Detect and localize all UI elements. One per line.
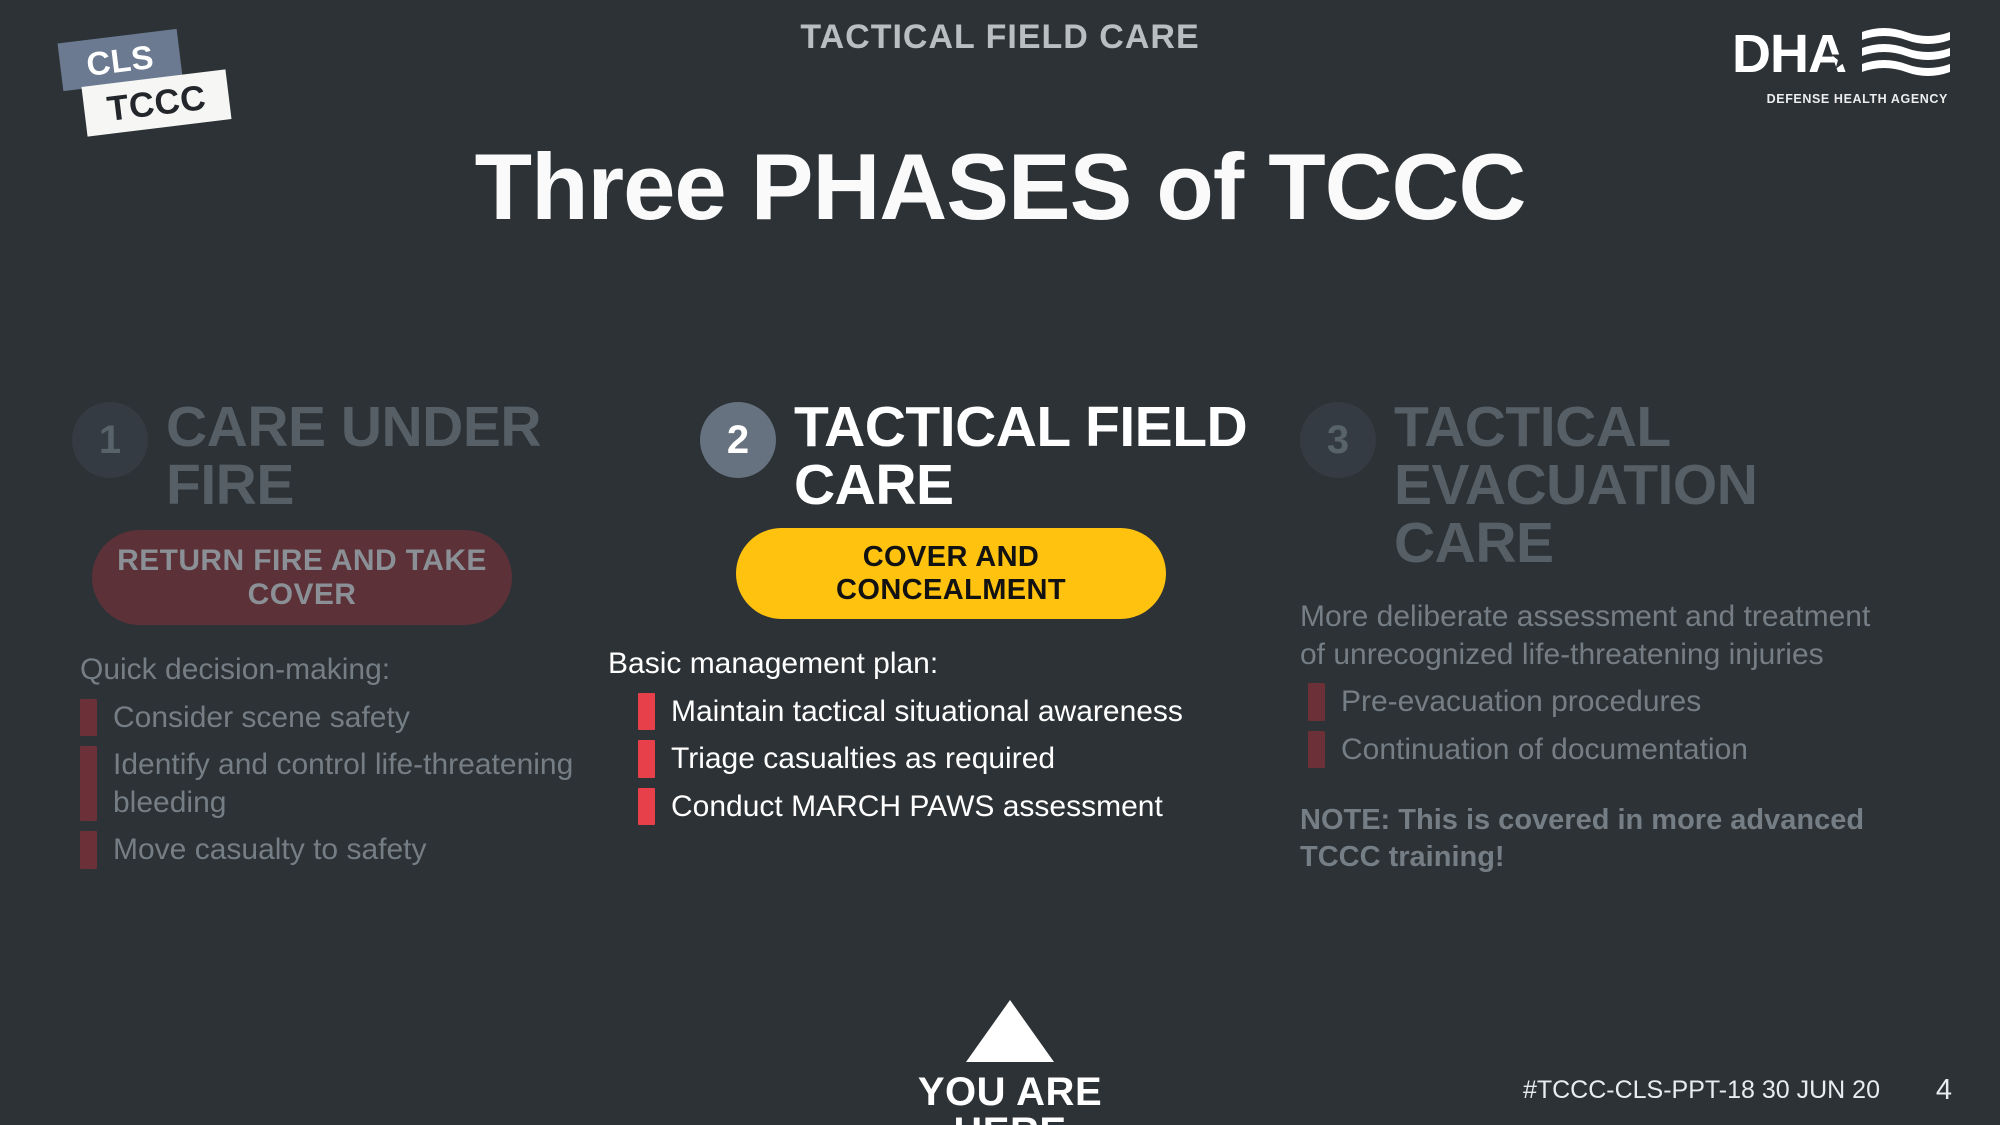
list-item: Triage casualties as required xyxy=(638,740,1260,778)
phase-1-header: 1 CARE UNDER FIRE xyxy=(72,398,652,514)
phase-column-2[interactable]: 2 TACTICAL FIELD CARE COVER AND CONCEALM… xyxy=(700,398,1260,835)
bullet-marker xyxy=(638,788,655,826)
phase-2-lead: Basic management plan: xyxy=(608,645,1260,683)
bullet-marker xyxy=(80,699,97,737)
phase-1-bullet-list: Consider scene safety Identify and contr… xyxy=(80,699,652,869)
phase-2-header: 2 TACTICAL FIELD CARE xyxy=(700,398,1260,514)
phase-1-lead: Quick decision-making: xyxy=(80,651,652,689)
dha-subtitle: DEFENSE HEALTH AGENCY xyxy=(1732,92,1952,106)
footer-page-number: 4 xyxy=(1936,1074,1952,1107)
phase-2-pill[interactable]: COVER AND CONCEALMENT xyxy=(736,528,1166,619)
list-item: Conduct MARCH PAWS assessment xyxy=(638,788,1260,826)
slide-eyebrow: TACTICAL FIELD CARE xyxy=(0,18,2000,57)
up-triangle-icon xyxy=(966,1000,1054,1062)
phase-2-title: TACTICAL FIELD CARE xyxy=(794,398,1260,514)
you-are-here-indicator: YOU ARE HERE xyxy=(880,1000,1140,1125)
list-item: Consider scene safety xyxy=(80,699,652,737)
bullet-text: Triage casualties as required xyxy=(671,740,1055,778)
phase-2-number-badge: 2 xyxy=(700,402,776,478)
bullet-text: Maintain tactical situational awareness xyxy=(671,693,1183,731)
page-title: Three PHASES of TCCC xyxy=(0,140,2000,234)
bullet-text: Identify and control life-threatening bl… xyxy=(113,746,652,821)
bullet-text: Continuation of documentation xyxy=(1341,731,1748,769)
slide-canvas: CLS TCCC DHA DEFENSE HEALTH AGENCY TACTI… xyxy=(0,0,2000,1125)
tccc-badge-label: TCCC xyxy=(105,80,208,127)
list-item: Move casualty to safety xyxy=(80,831,652,869)
phases-container: 1 CARE UNDER FIRE RETURN FIRE AND TAKE C… xyxy=(0,398,2000,1058)
bullet-marker xyxy=(80,831,97,869)
bullet-marker xyxy=(638,693,655,731)
phase-column-3[interactable]: 3 TACTICAL EVACUATION CARE More delibera… xyxy=(1300,398,1900,875)
bullet-marker xyxy=(80,746,97,821)
phase-1-pill[interactable]: RETURN FIRE AND TAKE COVER xyxy=(92,530,512,625)
phase-1-number-badge: 1 xyxy=(72,402,148,478)
phase-3-title: TACTICAL EVACUATION CARE xyxy=(1394,398,1900,572)
list-item: Pre-evacuation procedures xyxy=(1308,683,1900,721)
footer-document-code: #TCCC-CLS-PPT-18 30 JUN 20 xyxy=(1523,1076,1880,1105)
bullet-marker xyxy=(1308,683,1325,721)
phase-3-number-badge: 3 xyxy=(1300,402,1376,478)
list-item: Continuation of documentation xyxy=(1308,731,1900,769)
bullet-text: Conduct MARCH PAWS assessment xyxy=(671,788,1163,826)
bullet-text: Consider scene safety xyxy=(113,699,410,737)
phase-1-title: CARE UNDER FIRE xyxy=(166,398,652,514)
phase-3-header: 3 TACTICAL EVACUATION CARE xyxy=(1300,398,1900,572)
bullet-text: Move casualty to safety xyxy=(113,831,426,869)
bullet-marker xyxy=(638,740,655,778)
you-are-here-label: YOU ARE HERE xyxy=(880,1072,1140,1125)
bullet-marker xyxy=(1308,731,1325,769)
list-item: Identify and control life-threatening bl… xyxy=(80,746,652,821)
phase-column-1[interactable]: 1 CARE UNDER FIRE RETURN FIRE AND TAKE C… xyxy=(72,398,652,879)
phase-2-bullet-list: Maintain tactical situational awareness … xyxy=(638,693,1260,826)
phase-3-note: NOTE: This is covered in more advanced T… xyxy=(1300,802,1900,875)
bullet-text: Pre-evacuation procedures xyxy=(1341,683,1701,721)
phase-3-bullet-list: Pre-evacuation procedures Continuation o… xyxy=(1308,683,1900,768)
list-item: Maintain tactical situational awareness xyxy=(638,693,1260,731)
phase-3-lead: More deliberate assessment and treatment… xyxy=(1300,598,1900,673)
